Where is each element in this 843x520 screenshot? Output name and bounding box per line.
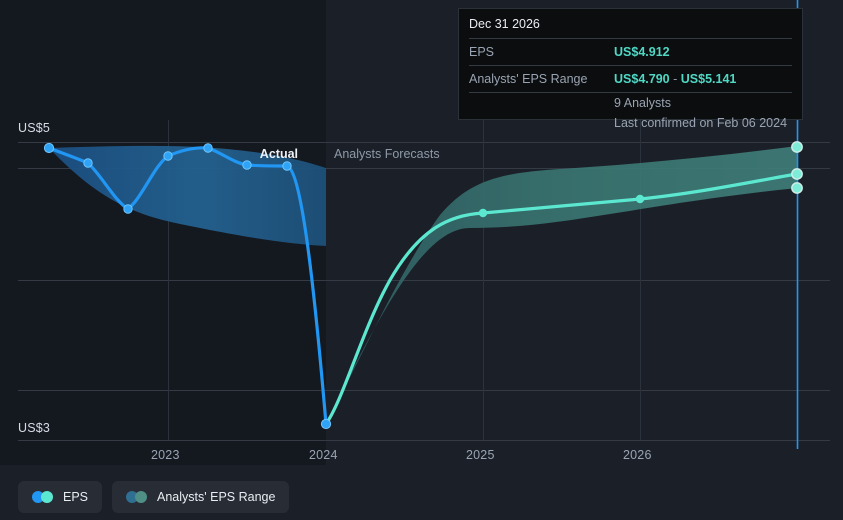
x-axis-label-2025: 2025 <box>466 448 495 462</box>
tooltip-analyst-count: 9 Analysts <box>469 93 792 110</box>
tooltip-range-separator: - <box>673 72 677 86</box>
tooltip-row-eps: EPS US$4.912 <box>469 39 792 66</box>
forecast-region-label: Analysts Forecasts <box>334 147 440 161</box>
x-axis-label-2024: 2024 <box>309 448 338 462</box>
legend-dots-icon <box>126 491 148 503</box>
tooltip-row-range: Analysts' EPS Range US$4.790 - US$5.141 <box>469 66 792 93</box>
tooltip-range-high: US$5.141 <box>681 72 737 86</box>
tooltip-title: Dec 31 2026 <box>469 9 792 39</box>
tooltip-range-value: US$4.790 - US$5.141 <box>614 72 736 86</box>
cursor-marker-value <box>792 169 802 179</box>
cursor-marker-upper <box>792 142 802 152</box>
eps-forecast-chart: US$5 US$3 2023 2024 2025 2026 Actual Ana… <box>0 0 843 520</box>
tooltip-eps-label: EPS <box>469 45 614 59</box>
legend-dots-icon <box>32 491 54 503</box>
cursor-marker-lower <box>792 183 802 193</box>
x-axis-label-2026: 2026 <box>623 448 652 462</box>
legend-item-eps-range[interactable]: Analysts' EPS Range <box>112 481 289 513</box>
legend-item-eps[interactable]: EPS <box>18 481 102 513</box>
tooltip-range-low: US$4.790 <box>614 72 670 86</box>
tooltip-last-confirmed: Last confirmed on Feb 06 2024 <box>469 110 792 130</box>
x-axis-label-2023: 2023 <box>151 448 180 462</box>
chart-legend: EPS Analysts' EPS Range <box>18 481 289 513</box>
y-axis-label-bottom: US$3 <box>18 421 50 435</box>
legend-label-eps: EPS <box>63 490 88 504</box>
tooltip-eps-value: US$4.912 <box>614 45 670 59</box>
y-axis-label-top: US$5 <box>18 121 50 135</box>
actual-region-label: Actual <box>260 147 298 161</box>
chart-tooltip: Dec 31 2026 EPS US$4.912 Analysts' EPS R… <box>458 8 803 120</box>
tooltip-range-label: Analysts' EPS Range <box>469 72 614 86</box>
legend-label-eps-range: Analysts' EPS Range <box>157 490 275 504</box>
